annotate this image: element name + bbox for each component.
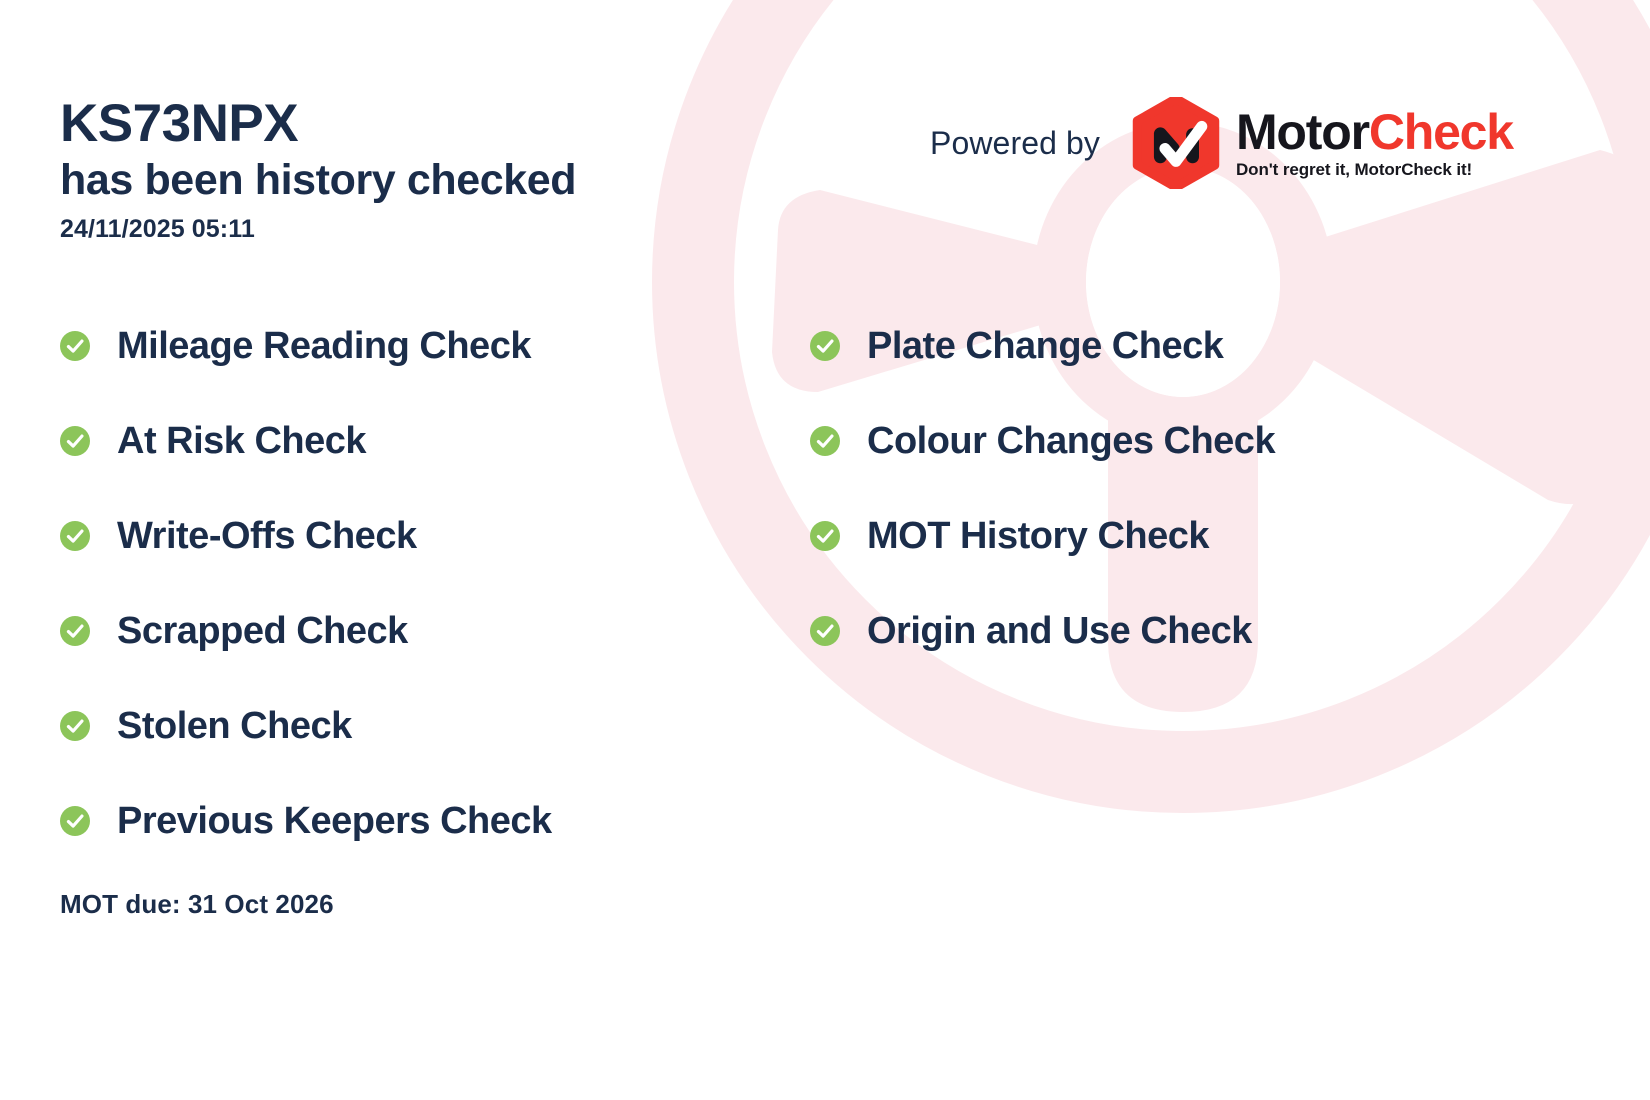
green-check-circle-icon [60, 331, 90, 361]
check-label: Plate Change Check [867, 327, 1223, 365]
green-check-circle-icon [810, 616, 840, 646]
check-label: Mileage Reading Check [117, 327, 531, 365]
check-label: Colour Changes Check [867, 422, 1275, 460]
green-check-circle-icon [60, 711, 90, 741]
brand-text-block: MotorCheck Don't regret it, MotorCheck i… [1236, 107, 1513, 180]
page-subtitle-status: has been history checked [60, 155, 760, 206]
brand-word-motor: Motor [1236, 104, 1369, 160]
vehicle-history-check-card: KS73NPX has been history checked 24/11/2… [0, 0, 1650, 1100]
check-label: Write-Offs Check [117, 517, 417, 555]
brand-word-check: Check [1369, 104, 1513, 160]
motorcheck-hexagon-m-tick-icon [1130, 97, 1222, 189]
page-header: KS73NPX has been history checked 24/11/2… [60, 96, 760, 244]
list-item: Origin and Use Check [810, 603, 1530, 659]
list-item: Plate Change Check [810, 318, 1530, 374]
checks-column-right: Plate Change Check Colour Changes Check … [810, 318, 1530, 698]
list-item: Write-Offs Check [60, 508, 760, 564]
list-item: Previous Keepers Check [60, 793, 760, 849]
list-item: Scrapped Check [60, 603, 760, 659]
brand-wordmark: MotorCheck [1236, 107, 1513, 157]
list-item: Stolen Check [60, 698, 760, 754]
brand-tagline: Don't regret it, MotorCheck it! [1236, 160, 1513, 180]
page-title-registration: KS73NPX [60, 96, 760, 153]
check-label: Previous Keepers Check [117, 802, 552, 840]
green-check-circle-icon [60, 521, 90, 551]
powered-by-lockup: Powered by MotorCheck [930, 95, 1513, 191]
green-check-circle-icon [810, 521, 840, 551]
green-check-circle-icon [810, 331, 840, 361]
check-label: Scrapped Check [117, 612, 408, 650]
check-label: At Risk Check [117, 422, 366, 460]
green-check-circle-icon [60, 616, 90, 646]
motorcheck-logo[interactable]: MotorCheck Don't regret it, MotorCheck i… [1130, 97, 1513, 189]
checks-column-left: Mileage Reading Check At Risk Check Writ… [60, 318, 760, 888]
list-item: Mileage Reading Check [60, 318, 760, 374]
check-label: Origin and Use Check [867, 612, 1252, 650]
check-label: Stolen Check [117, 707, 352, 745]
card-content: KS73NPX has been history checked 24/11/2… [0, 0, 1650, 1100]
green-check-circle-icon [60, 806, 90, 836]
mot-due-text: MOT due: 31 Oct 2026 [60, 889, 334, 920]
green-check-circle-icon [810, 426, 840, 456]
list-item: Colour Changes Check [810, 413, 1530, 469]
check-timestamp: 24/11/2025 05:11 [60, 215, 760, 244]
check-label: MOT History Check [867, 517, 1209, 555]
list-item: At Risk Check [60, 413, 760, 469]
green-check-circle-icon [60, 426, 90, 456]
list-item: MOT History Check [810, 508, 1530, 564]
powered-by-label: Powered by [930, 125, 1100, 162]
